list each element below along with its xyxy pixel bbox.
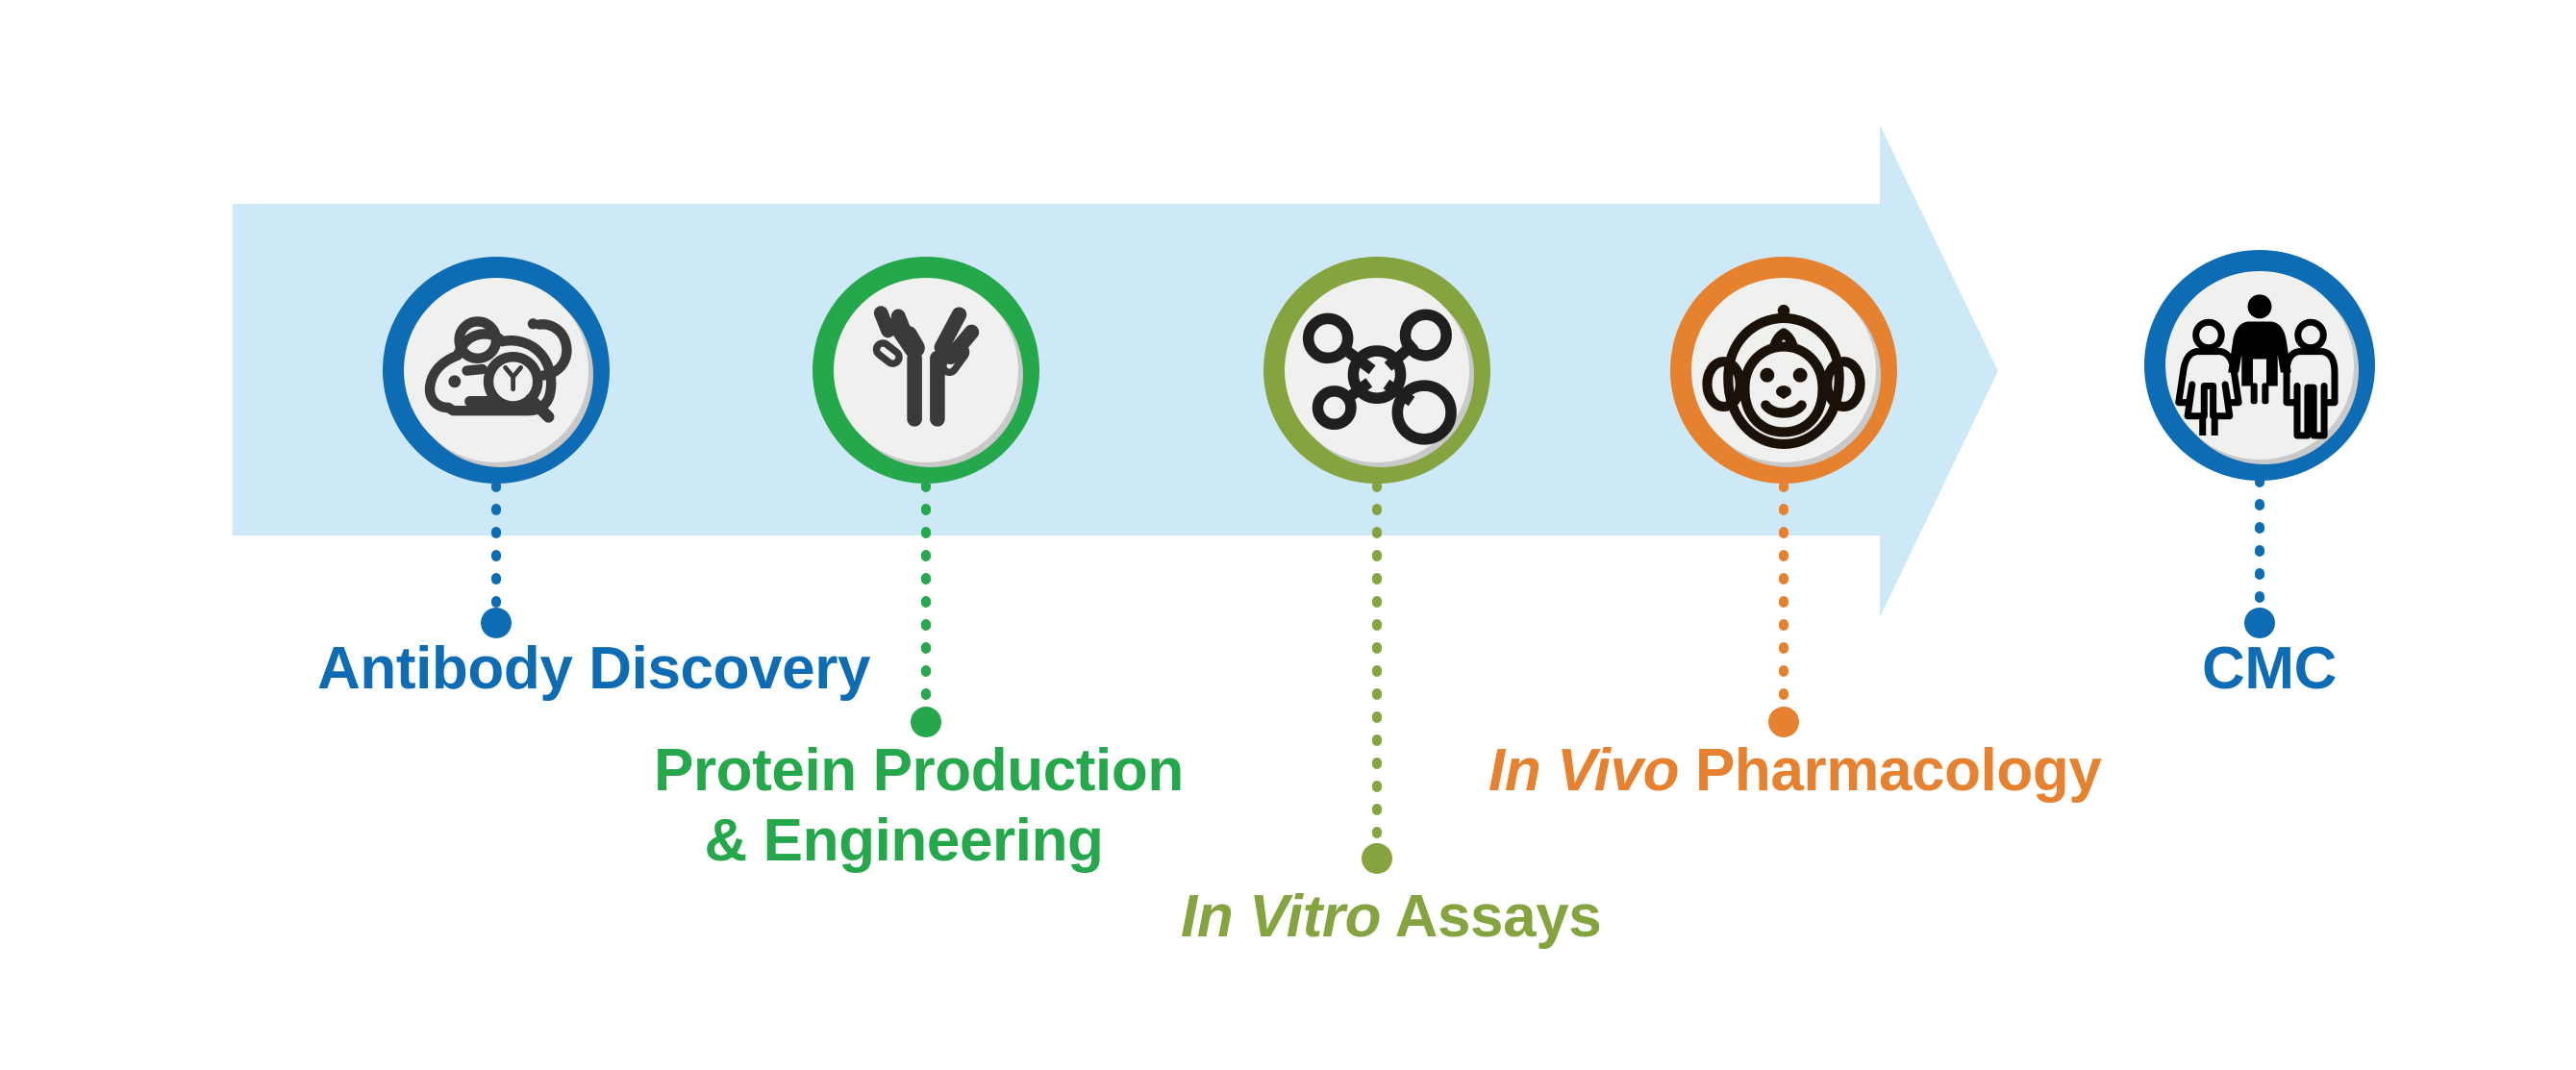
step-node-protein-production-engineering[interactable] [813, 257, 1039, 484]
connector-in-vitro-assays [1362, 485, 1392, 874]
step-node-in-vivo-pharmacology[interactable] [1670, 257, 1897, 484]
diagram-canvas: Antibody Discovery Protein Production & … [0, 0, 2576, 1070]
step-disc [834, 278, 1018, 462]
step-label-upright-part: Assays [1381, 883, 1601, 950]
step-label-upright-part: Pharmacology [1679, 737, 2101, 804]
step-node-cmc[interactable] [2144, 250, 2375, 481]
step-label-italic-part: In Vivo [1488, 737, 1679, 804]
step-label-line-1: Protein Production [654, 736, 1154, 807]
step-label-in-vitro-assays: In Vitro Assays [1181, 883, 1601, 953]
step-label-line-2: & Engineering [654, 807, 1154, 877]
step-label-italic-part: In Vitro [1181, 883, 1381, 950]
step-label-in-vivo-pharmacology: In Vivo Pharmacology [1488, 736, 2101, 807]
step-label-antibody-discovery: Antibody Discovery [317, 635, 870, 705]
step-label-cmc: CMC [2202, 635, 2337, 705]
step-label-protein-production-engineering: Protein Production & Engineering [654, 736, 1154, 876]
step-node-antibody-discovery[interactable] [383, 257, 610, 484]
connector-cmc [2244, 481, 2275, 638]
step-node-in-vitro-assays[interactable] [1263, 257, 1490, 484]
connector-end-dot [1768, 707, 1799, 737]
connector-end-dot [911, 707, 941, 737]
connector-end-dot [1362, 843, 1392, 874]
